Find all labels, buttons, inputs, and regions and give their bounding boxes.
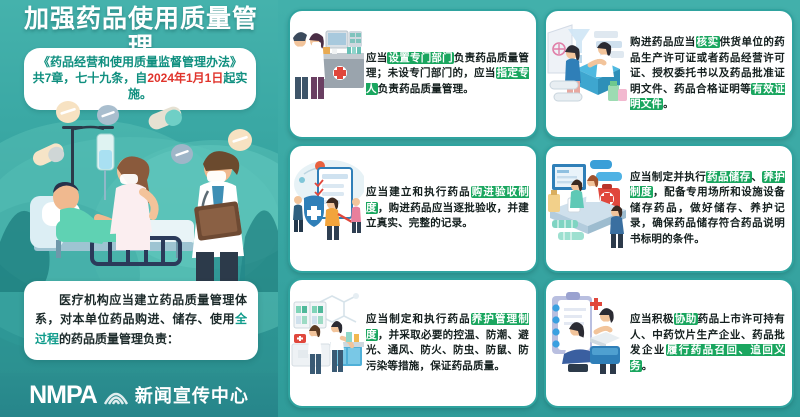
card-4-segment-1-highlight: 药品储存 — [706, 171, 751, 183]
card-5-text: 应当制定和执行药品养护管理制度，并采取必要的控温、防潮、避光、通风、防火、防虫、… — [364, 308, 536, 378]
card-1-segment-1-highlight: 设置专门部门 — [387, 52, 453, 64]
card-2-text: 购进药品应当核实供货单位的药品生产许可证或者药品经营许可证、授权委托书以及药品批… — [628, 31, 792, 117]
checklist-shield-illustration — [290, 146, 364, 272]
brand-bar: NMPA 新闻宣传中心 — [0, 373, 278, 417]
laboratory-maintenance-illustration — [290, 280, 364, 406]
card-4-segment-2: 、 — [752, 171, 763, 183]
hospital-scene-svg — [0, 92, 278, 292]
effective-prefix: 共7章，七十九条，自 — [33, 71, 148, 85]
card-4-segment-0: 应当制定并执行 — [630, 171, 706, 183]
summary-paragraph: 医疗机构应当建立药品质量管理体系，对本单位药品购进、储存、使用全过程的药品质量管… — [35, 291, 247, 349]
card-1-segment-4: 负责药品质量管理。 — [378, 83, 474, 95]
card-1-segment-0: 应当 — [366, 52, 387, 64]
card-6-segment-1-highlight: 协助 — [674, 313, 698, 325]
card-3-segment-2: ，购进药品应当逐批验收，并建立真实、完整的记录。 — [366, 202, 529, 230]
card-5-segment-2: ，并采取必要的控温、防潮、避光、通风、防火、防虫、防鼠、防污染等措施，保证药品质… — [366, 329, 529, 372]
summary-textbox: 医疗机构应当建立药品质量管理体系，对本单位药品购进、储存、使用全过程的药品质量管… — [24, 281, 258, 360]
card-2-segment-0: 购进药品应当 — [630, 36, 696, 48]
card-5-segment-0: 应当制定和执行药品 — [366, 313, 471, 325]
card-3-text: 应当建立和执行药品购进验收制度，购进药品应当逐批验收，并建立真实、完整的记录。 — [364, 181, 536, 236]
card-1-text: 应当设置专门部门负责药品质量管理；未设专门部门的，应当指定专人负责药品质量管理。 — [364, 47, 536, 102]
summary-suffix: 的药品质量管理负责： — [59, 332, 179, 346]
card-4-text: 应当制定并执行药品储存、养护制度，配备专用场所和设施设备储存药品，做好储存、养护… — [628, 166, 792, 252]
card-2[interactable]: 购进药品应当核实供货单位的药品生产许可证或者药品经营许可证、授权委托书以及药品批… — [544, 9, 794, 139]
card-5[interactable]: 应当制定和执行药品养护管理制度，并采取必要的控温、防潮、避光、通风、防火、防虫、… — [288, 278, 538, 408]
summary-prefix: 医疗机构应当建立药品质量管理体系，对本单位药品购进、储存、使用 — [35, 293, 247, 326]
storage-warehouse-illustration — [546, 146, 628, 272]
card-3[interactable]: 应当建立和执行药品购进验收制度，购进药品应当逐批验收，并建立真实、完整的记录。 — [288, 144, 538, 274]
card-6-text: 应当积极协助药品上市许可持有人、中药饮片生产企业、药品批发企业履行药品召回、追回… — [628, 308, 792, 378]
effective-date: 2024年1月1日 — [147, 71, 223, 85]
left-panel: 加强药品使用质量管理 《药品经营和使用质量监督管理办法》 共7章，七十九条，自2… — [0, 0, 278, 417]
card-1[interactable]: 应当设置专门部门负责药品质量管理；未设专门部门的，应当指定专人负责药品质量管理。 — [288, 9, 538, 139]
card-3-segment-0: 应当建立和执行药品 — [366, 186, 471, 198]
brand-nmpa-text: NMPA — [29, 381, 97, 410]
nmpa-wave-icon — [103, 384, 129, 406]
card-2-segment-1-highlight: 核实 — [696, 36, 720, 48]
pharmacist-dispensing-illustration — [546, 11, 628, 137]
card-2-segment-4: 。 — [663, 98, 674, 110]
card-6[interactable]: 应当积极协助药品上市许可持有人、中药饮片生产企业、药品批发企业履行药品召回、追回… — [544, 278, 794, 408]
hospital-scene-illustration — [0, 92, 278, 292]
card-6-segment-4: 。 — [642, 360, 653, 372]
pharmacy-counter-staff-illustration — [290, 11, 364, 137]
poster-root: 加强药品使用质量管理 《药品经营和使用质量监督管理办法》 共7章，七十九条，自2… — [0, 0, 800, 417]
clipboard-recall-illustration — [546, 280, 628, 406]
card-4[interactable]: 应当制定并执行药品储存、养护制度，配备专用场所和设施设备储存药品，做好储存、养护… — [544, 144, 794, 274]
regulation-name: 《药品经营和使用质量监督管理办法》 — [32, 54, 248, 70]
cards-grid: 应当设置专门部门负责药品质量管理；未设专门部门的，应当指定专人负责药品质量管理。 — [282, 0, 800, 417]
brand-center-text: 新闻宣传中心 — [135, 382, 249, 408]
card-4-segment-4: ，配备专用场所和设施设备储存药品，做好储存、养护记录，确保药品储存符合药品说明书… — [630, 186, 785, 245]
card-6-segment-0: 应当积极 — [630, 313, 674, 325]
